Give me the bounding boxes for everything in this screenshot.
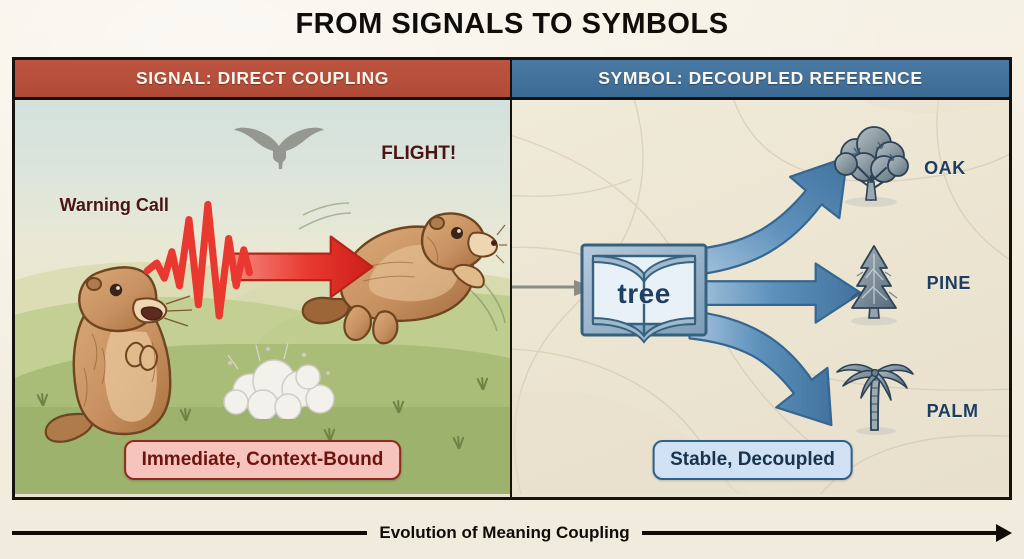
referent-pine: PINE: [833, 242, 971, 326]
grass-tuft: [391, 399, 407, 413]
hawk-silhouette-icon: [233, 124, 325, 176]
referent-label: PINE: [927, 273, 971, 294]
referent-label: OAK: [924, 158, 966, 179]
axis-caption: Evolution of Meaning Coupling: [367, 523, 641, 543]
red-arrow-icon: [232, 236, 372, 297]
red-waveform-icon: [147, 204, 249, 316]
panel-signal-header: SIGNAL: DIRECT COUPLING: [15, 60, 510, 100]
panel-symbol-header: SYMBOL: DECOUPLED REFERENCE: [512, 60, 1009, 100]
referent-label: PALM: [927, 401, 979, 422]
panel-signal-body: Warning Call FLIGHT!: [15, 100, 510, 494]
prairie-scene: Warning Call FLIGHT!: [15, 100, 510, 494]
flight-label: FLIGHT!: [381, 143, 456, 165]
referent-palm: PALM: [833, 352, 979, 436]
symbol-scene: tree: [512, 100, 1009, 494]
page-title: FROM SIGNALS TO SYMBOLS: [0, 8, 1024, 41]
symbol-badge: Stable, Decoupled: [652, 440, 853, 480]
symbol-word: tree: [579, 242, 709, 346]
referent-oak: OAK: [830, 124, 966, 208]
signal-badge: Immediate, Context-Bound: [124, 440, 402, 480]
axis-arrowhead-icon: [996, 524, 1012, 542]
grass-tuft: [322, 427, 338, 441]
panel-symbol: SYMBOL: DECOUPLED REFERENCE: [512, 60, 1009, 497]
panel-symbol-body: tree: [512, 100, 1009, 494]
open-book-icon: tree: [579, 242, 709, 346]
comparison-board: SIGNAL: DIRECT COUPLING: [12, 57, 1012, 500]
axis-line-left: [12, 531, 367, 535]
palm-tree-icon: [833, 352, 915, 436]
grass-tuft: [475, 376, 491, 390]
evolution-axis: Evolution of Meaning Coupling: [12, 516, 1012, 550]
grass-tuft: [451, 435, 467, 449]
panel-signal: SIGNAL: DIRECT COUPLING: [15, 60, 512, 497]
axis-line-right: [642, 531, 997, 535]
oak-tree-icon: [830, 124, 912, 208]
signal-group: [139, 195, 426, 337]
pine-tree-icon: [833, 242, 915, 326]
